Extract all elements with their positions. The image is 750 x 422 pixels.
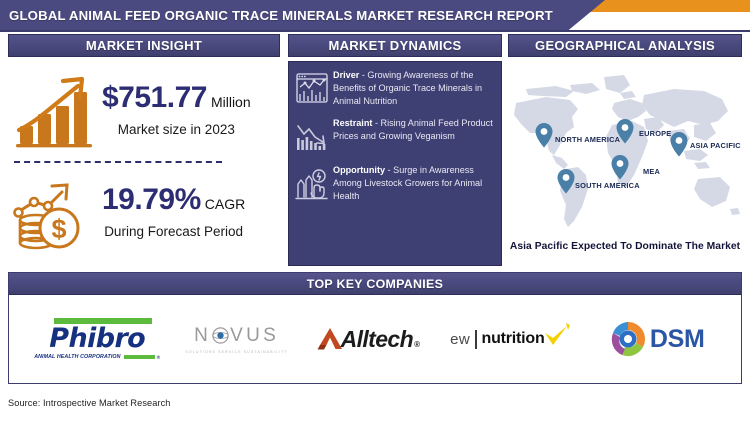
novus-letter-n: N (194, 325, 211, 347)
cagr-text: 19.79% CAGR During Forecast Period (98, 185, 245, 239)
ewn-prefix: ew (450, 331, 470, 348)
market-size-text: $751.77 Million Market size in 2023 (98, 83, 251, 137)
market-dynamics-body: Driver - Growing Awareness of the Benefi… (288, 61, 502, 266)
phibro-tagline-rule (124, 355, 155, 359)
declining-bar-chart-icon (294, 117, 330, 155)
company-logo-dsm[interactable]: DSM (597, 320, 717, 358)
dynamics-opportunity-text: Opportunity - Surge in Awareness Among L… (330, 164, 495, 203)
report-title-bar: GLOBAL ANIMAL FEED ORGANIC TRACE MINERAL… (0, 0, 750, 30)
ewn-wordmark: nutrition (482, 330, 545, 348)
coins-growth-icon: $ (12, 172, 98, 252)
company-logo-ew-nutrition[interactable]: ew nutrition (444, 323, 576, 355)
novus-tagline: SOLUTIONS SERVICE SUSTAINABILITY (185, 350, 287, 354)
dynamics-driver-label: Driver (333, 70, 359, 80)
map-label-asia-pacific: ASIA PACIFIC (690, 141, 741, 150)
phibro-tagline-row: ANIMAL HEALTH CORPORATION ® (34, 354, 160, 360)
market-dynamics-heading: MARKET DYNAMICS (288, 34, 502, 57)
company-logo-alltech[interactable]: Alltech® (312, 326, 424, 353)
top-key-companies-panel: TOP KEY COMPANIES Phibro ANIMAL HEALTH C… (8, 272, 742, 384)
dynamics-driver-text: Driver - Growing Awareness of the Benefi… (330, 69, 495, 108)
infographic-root: GLOBAL ANIMAL FEED ORGANIC TRACE MINERAL… (0, 0, 750, 422)
source-note: Source: Introspective Market Research (8, 398, 171, 408)
insight-divider (14, 161, 222, 163)
dynamics-item-restraint: Restraint - Rising Animal Feed Product P… (294, 117, 495, 155)
company-logo-novus[interactable]: N VUS SOLUTIONS SERVICE SUSTAINABILITY (182, 325, 292, 354)
dynamics-item-opportunity: Opportunity - Surge in Awareness Among L… (294, 164, 495, 203)
dynamics-restraint-label: Restraint (333, 118, 372, 128)
novus-wordmark: N VUS (194, 325, 279, 347)
dynamics-opportunity-sep: - (385, 165, 393, 175)
alltech-wordmark: Alltech® (341, 326, 420, 353)
ewn-divider (475, 330, 476, 349)
bar-chart-growth-icon (12, 70, 98, 150)
market-insight-panel: MARKET INSIGHT (8, 34, 280, 266)
title-purple-banner: GLOBAL ANIMAL FEED ORGANIC TRACE MINERAL… (0, 0, 605, 30)
company-logo-phibro[interactable]: Phibro ANIMAL HEALTH CORPORATION ® (33, 318, 161, 360)
map-label-europe: EUROPE (639, 129, 671, 138)
top-key-companies-heading: TOP KEY COMPANIES (9, 273, 741, 295)
geographical-analysis-heading: GEOGRAPHICAL ANALYSIS (508, 34, 742, 57)
page-title: GLOBAL ANIMAL FEED ORGANIC TRACE MINERAL… (0, 8, 553, 23)
phibro-registered-icon: ® (157, 355, 160, 360)
ewn-checkmark-icon (543, 323, 571, 349)
dashboard-chart-icon (294, 69, 330, 107)
market-size-caption: Market size in 2023 (102, 122, 251, 137)
alltech-registered-icon: ® (414, 340, 419, 349)
cagr-caption: During Forecast Period (102, 224, 245, 239)
geographical-caption: Asia Pacific Expected To Dominate The Ma… (508, 241, 742, 252)
world-map (508, 59, 742, 241)
company-logo-row: Phibro ANIMAL HEALTH CORPORATION ® N VUS (9, 295, 741, 383)
geographical-analysis-body: NORTH AMERICA EUROPE ASIA PACIFIC MEA SO… (508, 57, 742, 266)
phibro-tagline: ANIMAL HEALTH CORPORATION (34, 354, 120, 360)
market-insight-heading: MARKET INSIGHT (8, 34, 280, 57)
dynamics-restraint-sep: - (372, 118, 380, 128)
cagr-value: 19.79% (102, 185, 201, 215)
market-size-block: $751.77 Million Market size in 2023 (12, 67, 276, 153)
geographical-analysis-panel: GEOGRAPHICAL ANALYSIS (508, 34, 742, 266)
novus-letters-vus: VUS (230, 325, 279, 347)
map-label-mea: MEA (643, 167, 660, 176)
dynamics-opportunity-label: Opportunity (333, 165, 385, 175)
cagr-unit: CAGR (205, 196, 245, 212)
novus-globe-icon (212, 327, 229, 344)
title-divider (0, 30, 750, 32)
market-size-value: $751.77 (102, 83, 207, 113)
market-insight-body: $751.77 Million Market size in 2023 (8, 57, 280, 266)
market-dynamics-panel: MARKET DYNAMICS (288, 34, 502, 266)
dsm-swirl-icon (609, 320, 647, 358)
market-size-unit: Million (211, 94, 251, 110)
dsm-wordmark: DSM (650, 325, 705, 354)
growth-hand-idea-icon (294, 164, 330, 202)
map-label-north-america: NORTH AMERICA (555, 135, 620, 144)
dynamics-item-driver: Driver - Growing Awareness of the Benefi… (294, 69, 495, 108)
alltech-a-mark-icon (317, 327, 343, 351)
cagr-block: $ 19.79% CAGR During Forecast Period (12, 169, 276, 255)
map-label-south-america: SOUTH AMERICA (575, 181, 640, 190)
svg-text:$: $ (51, 214, 66, 244)
phibro-wordmark: Phibro (49, 325, 145, 352)
dynamics-restraint-text: Restraint - Rising Animal Feed Product P… (330, 117, 495, 155)
alltech-name: Alltech (341, 326, 413, 353)
